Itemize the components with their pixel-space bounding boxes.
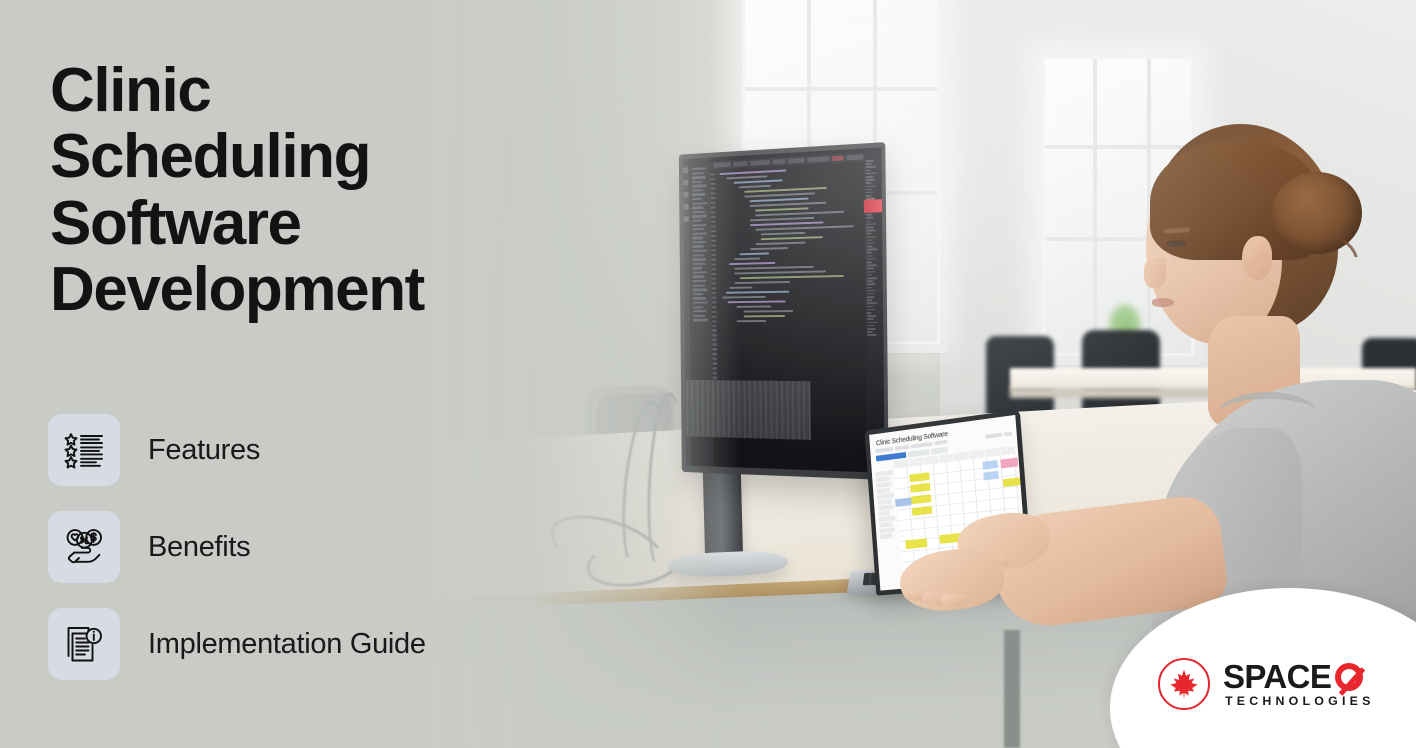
headline-line-4: Development	[50, 257, 650, 323]
document-info-icon	[48, 608, 120, 680]
nose	[1144, 258, 1166, 288]
list-item-label: Implementation Guide	[148, 628, 426, 661]
page-title: Clinic Scheduling Software Development	[50, 58, 650, 323]
brand-logo[interactable]: SPACE TECHNOLOGIES	[1158, 648, 1410, 720]
hero-banner: Clinic Scheduling Software	[0, 0, 1416, 748]
list-item-label: Features	[148, 434, 260, 467]
logo-name-text: SPACE	[1223, 660, 1331, 693]
headline-line-2: Scheduling	[50, 124, 650, 190]
eye	[1166, 240, 1186, 247]
list-item-features[interactable]: Features	[48, 414, 426, 486]
desk-leg	[1004, 630, 1020, 748]
headline-line-3: Software	[50, 191, 650, 257]
list-item-benefits[interactable]: Benefits	[48, 511, 426, 583]
logo-name: SPACE	[1223, 660, 1375, 693]
hand-coins-icon	[48, 511, 120, 583]
banner-content: Clinic Scheduling Software Development	[0, 0, 740, 748]
list-item-implementation-guide[interactable]: Implementation Guide	[48, 608, 426, 680]
error-highlight-bar	[864, 199, 882, 213]
logo-wordmark: SPACE TECHNOLOGIES	[1223, 660, 1375, 708]
lips	[1152, 298, 1174, 307]
ear	[1242, 236, 1272, 280]
logo-tagline: TECHNOLOGIES	[1223, 694, 1375, 708]
headline-line-1: Clinic	[50, 58, 650, 124]
list-item-label: Benefits	[148, 531, 250, 564]
canada-maple-leaf-icon	[1158, 658, 1210, 710]
shirt-collar	[1220, 392, 1316, 432]
star-list-icon	[48, 414, 120, 486]
person-at-desk	[1090, 110, 1416, 670]
feature-list: Features	[48, 414, 426, 705]
logo-o-slash-mark	[1335, 663, 1363, 691]
